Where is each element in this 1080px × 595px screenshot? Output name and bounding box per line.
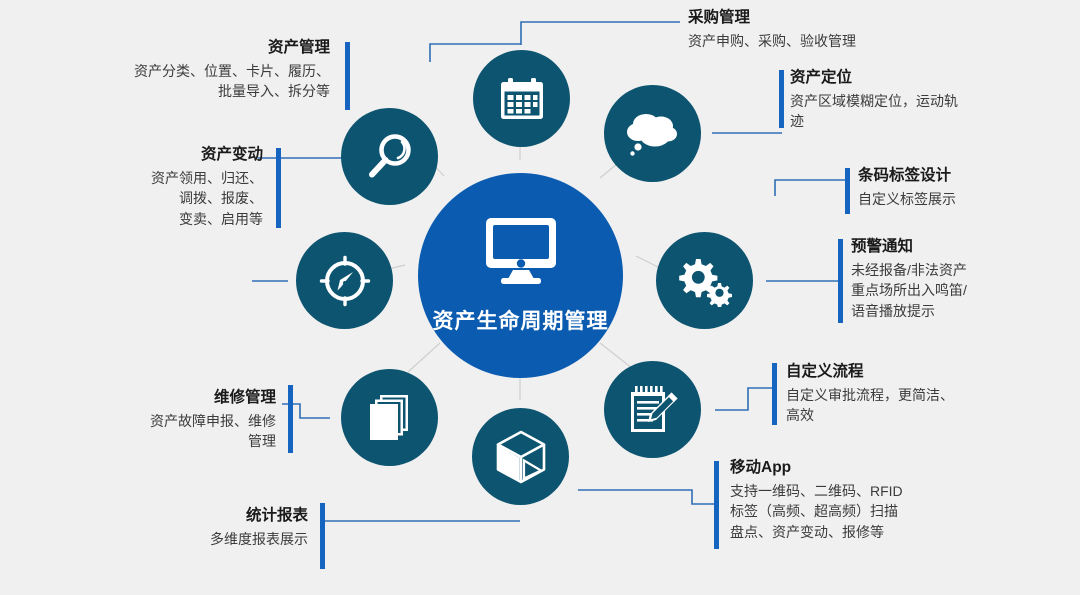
label-title: 移动App bbox=[730, 458, 1030, 479]
label-title: 条码标签设计 bbox=[858, 166, 1078, 187]
node-asset-locating[interactable] bbox=[604, 85, 701, 182]
label-mobile-app: 移动App 支持一维码、二维码、RFID 标签（高频、超高频）扫描 盘点、资产变… bbox=[730, 458, 1030, 542]
node-custom-workflow[interactable] bbox=[604, 361, 701, 458]
accent-bar-mobile-app bbox=[714, 461, 719, 549]
label-desc-line: 批量导入、拆分等 bbox=[40, 81, 330, 101]
gears-icon bbox=[676, 255, 734, 307]
label-desc-line: 管理 bbox=[30, 431, 276, 451]
accent-bar-asset-change bbox=[276, 148, 281, 228]
label-title: 资产管理 bbox=[40, 38, 330, 59]
label-desc-line: 资产区域模糊定位，运动轨 bbox=[790, 91, 1040, 111]
accent-bar-barcode-label bbox=[845, 168, 850, 214]
label-desc-line: 调拨、报废、 bbox=[20, 188, 263, 208]
label-desc-line: 重点场所出入鸣笛/ bbox=[851, 280, 1076, 300]
cloud-thought-icon bbox=[624, 108, 682, 160]
node-asset-change[interactable] bbox=[296, 232, 393, 329]
label-desc-line: 自定义标签展示 bbox=[858, 189, 1078, 209]
label-desc-line: 标签（高频、超高频）扫描 bbox=[730, 501, 1030, 521]
accent-bar-asset-locating bbox=[779, 70, 784, 128]
label-title: 资产定位 bbox=[790, 68, 1040, 89]
label-desc-line: 资产故障申报、维修 bbox=[30, 411, 276, 431]
label-procurement: 采购管理 资产申购、采购、验收管理 bbox=[688, 8, 1018, 51]
magnifier-icon bbox=[364, 131, 416, 183]
accent-bar-repair-management bbox=[288, 385, 293, 453]
label-custom-workflow: 自定义流程 自定义审批流程，更简洁、 高效 bbox=[786, 362, 1046, 426]
label-title: 采购管理 bbox=[688, 8, 1018, 29]
diagram-canvas: 资产生命周期管理 bbox=[0, 0, 1080, 595]
notepad-pencil-icon bbox=[625, 383, 681, 437]
label-alert-notice: 预警通知 未经报备/非法资产 重点场所出入鸣笛/ 语音播放提示 bbox=[851, 237, 1076, 321]
node-statistics-report[interactable] bbox=[472, 408, 569, 505]
accent-bar-asset-management bbox=[345, 42, 350, 110]
node-asset-management[interactable] bbox=[341, 108, 438, 205]
label-desc-line: 高效 bbox=[786, 405, 1046, 425]
node-procurement[interactable] bbox=[473, 50, 570, 147]
compass-icon bbox=[318, 254, 372, 308]
label-repair-management: 维修管理 资产故障申报、维修 管理 bbox=[30, 388, 276, 452]
label-desc-line: 支持一维码、二维码、RFID bbox=[730, 481, 1030, 501]
label-desc-line: 自定义审批流程，更简洁、 bbox=[786, 385, 1046, 405]
calendar-icon bbox=[498, 76, 546, 122]
monitor-icon bbox=[482, 216, 560, 291]
label-desc-line: 资产申购、采购、验收管理 bbox=[688, 31, 1018, 51]
label-barcode-label: 条码标签设计 自定义标签展示 bbox=[858, 166, 1078, 209]
label-title: 维修管理 bbox=[30, 388, 276, 409]
accent-bar-custom-workflow bbox=[772, 363, 777, 425]
accent-bar-alert-notice bbox=[838, 239, 843, 323]
label-desc-line: 变卖、启用等 bbox=[20, 209, 263, 229]
label-title: 资产变动 bbox=[20, 145, 263, 166]
node-repair-management[interactable] bbox=[341, 369, 438, 466]
label-title: 预警通知 bbox=[851, 237, 1076, 258]
label-asset-locating: 资产定位 资产区域模糊定位，运动轨 迹 bbox=[790, 68, 1040, 132]
label-asset-management: 资产管理 资产分类、位置、卡片、履历、 批量导入、拆分等 bbox=[40, 38, 330, 102]
label-desc-line: 多维度报表展示 bbox=[60, 529, 308, 549]
cube-icon bbox=[493, 429, 549, 485]
node-alert-notice[interactable] bbox=[656, 232, 753, 329]
center-title: 资产生命周期管理 bbox=[433, 305, 609, 335]
label-title: 统计报表 bbox=[60, 506, 308, 527]
label-desc-line: 迹 bbox=[790, 111, 1040, 131]
center-node: 资产生命周期管理 bbox=[418, 173, 623, 378]
label-title: 自定义流程 bbox=[786, 362, 1046, 383]
label-asset-change: 资产变动 资产领用、归还、 调拨、报废、 变卖、启用等 bbox=[20, 145, 263, 229]
label-desc-line: 资产分类、位置、卡片、履历、 bbox=[40, 61, 330, 81]
label-desc-line: 语音播放提示 bbox=[851, 301, 1076, 321]
label-desc-line: 未经报备/非法资产 bbox=[851, 260, 1076, 280]
documents-stack-icon bbox=[363, 392, 417, 444]
label-statistics-report: 统计报表 多维度报表展示 bbox=[60, 506, 308, 549]
label-desc-line: 资产领用、归还、 bbox=[20, 168, 263, 188]
accent-bar-statistics-report bbox=[320, 503, 325, 569]
label-desc-line: 盘点、资产变动、报修等 bbox=[730, 522, 1030, 542]
